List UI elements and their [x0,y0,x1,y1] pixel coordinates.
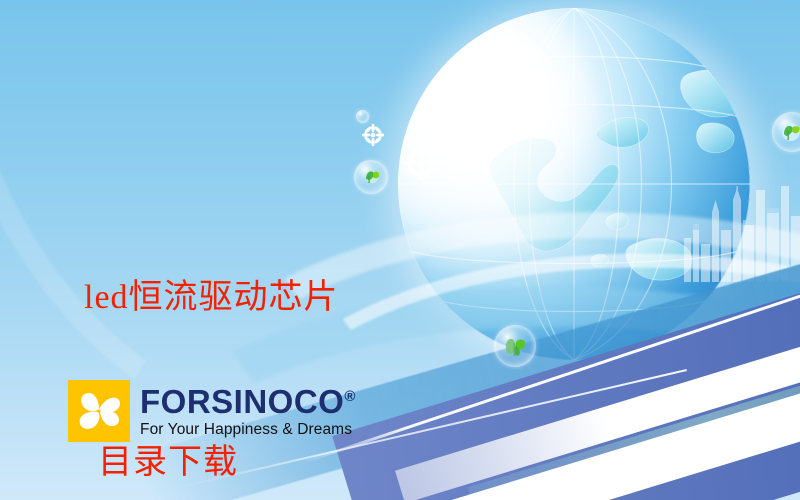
bubble-edge-right [772,112,800,152]
headline-line-2: 目录下载 [84,435,464,490]
logo-company-name-text: FORSINOCO [140,383,344,420]
page-title: led恒流驱动芯片 目录下载 [84,160,464,500]
registered-trademark-symbol: ® [344,388,355,405]
logo-company-name: FORSINOCO® [140,385,355,418]
promo-banner: led恒流驱动芯片 目录下载 FORSINOCO® For Your Happi… [0,0,800,500]
headline-line-1: led恒流驱动芯片 [84,270,464,325]
logo-text-block: FORSINOCO® For Your Happiness & Dreams [140,385,355,438]
bubble-small-top [356,110,369,123]
logo-mark-flower-icon [68,380,130,442]
flower-small-icon [362,124,384,146]
bubble-with-sprout [494,325,536,367]
logo-tagline: For Your Happiness & Dreams [140,422,355,438]
company-logo: FORSINOCO® For Your Happiness & Dreams [68,380,355,442]
